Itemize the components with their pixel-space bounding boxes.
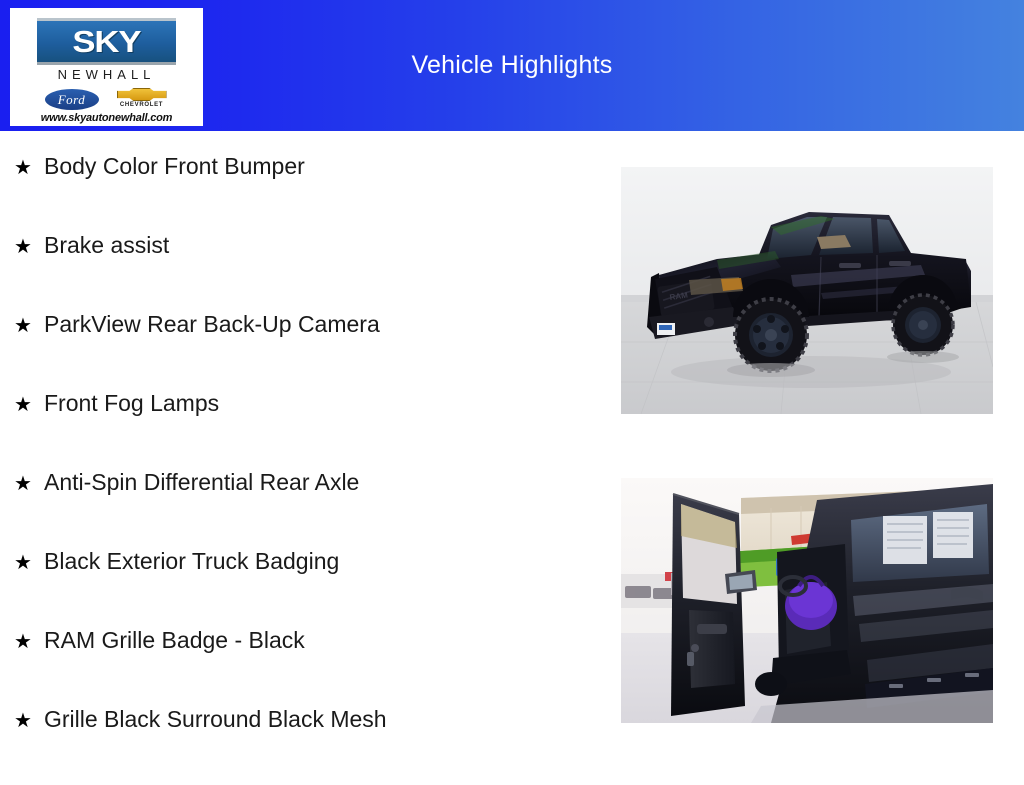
- ford-logo-icon: Ford: [44, 88, 100, 111]
- dealer-location-label: NEWHALL: [10, 68, 203, 82]
- chevrolet-logo-text: CHEVROLET: [114, 102, 170, 109]
- sky-brand-plate: SKY: [37, 18, 176, 65]
- chevrolet-logo-icon: CHEVROLET: [114, 87, 170, 111]
- sky-brand-text: SKY: [72, 26, 140, 57]
- vehicle-photo-exterior[interactable]: RAM: [621, 167, 993, 414]
- list-item-label: Black Exterior Truck Badging: [44, 548, 339, 574]
- list-item-label: Body Color Front Bumper: [44, 153, 305, 179]
- list-item: ★ Front Fog Lamps: [0, 390, 600, 469]
- star-icon: ★: [14, 550, 44, 576]
- list-item-label: RAM Grille Badge - Black: [44, 627, 305, 653]
- star-icon: ★: [14, 313, 44, 339]
- star-icon: ★: [14, 471, 44, 497]
- vehicle-photo-interior[interactable]: SKY: [621, 478, 993, 723]
- exterior-photo-graphic: RAM: [621, 167, 993, 414]
- list-item: ★ ParkView Rear Back-Up Camera: [0, 311, 600, 390]
- star-icon: ★: [14, 234, 44, 260]
- list-item-label: Front Fog Lamps: [44, 390, 219, 416]
- vehicle-highlights-list: ★ Body Color Front Bumper ★ Brake assist…: [0, 131, 600, 768]
- list-item-label: Grille Black Surround Black Mesh: [44, 706, 387, 732]
- star-icon: ★: [14, 629, 44, 655]
- ford-logo-text: Ford: [58, 93, 86, 106]
- chevrolet-bowtie-icon: [117, 88, 167, 101]
- star-icon: ★: [14, 708, 44, 734]
- interior-photo-graphic: SKY: [621, 478, 993, 723]
- franchise-brand-row: Ford CHEVROLET: [10, 86, 203, 112]
- list-item-label: Brake assist: [44, 232, 169, 258]
- star-icon: ★: [14, 155, 44, 181]
- list-item: ★ Brake assist: [0, 232, 600, 311]
- list-item: ★ Black Exterior Truck Badging: [0, 548, 600, 627]
- list-item-label: ParkView Rear Back-Up Camera: [44, 311, 380, 337]
- dealer-website-url[interactable]: www.skyautonewhall.com: [10, 112, 203, 124]
- list-item: ★ Grille Black Surround Black Mesh: [0, 706, 600, 785]
- star-icon: ★: [14, 392, 44, 418]
- list-item: ★ Body Color Front Bumper: [0, 153, 600, 232]
- dealer-logo[interactable]: SKY NEWHALL Ford CHEVROLET www.skyautone…: [10, 8, 203, 126]
- list-item: ★ RAM Grille Badge - Black: [0, 627, 600, 706]
- dealer-logo-inner: SKY NEWHALL Ford CHEVROLET www.skyautone…: [10, 8, 203, 126]
- list-item-label: Anti-Spin Differential Rear Axle: [44, 469, 359, 495]
- list-item: ★ Anti-Spin Differential Rear Axle: [0, 469, 600, 548]
